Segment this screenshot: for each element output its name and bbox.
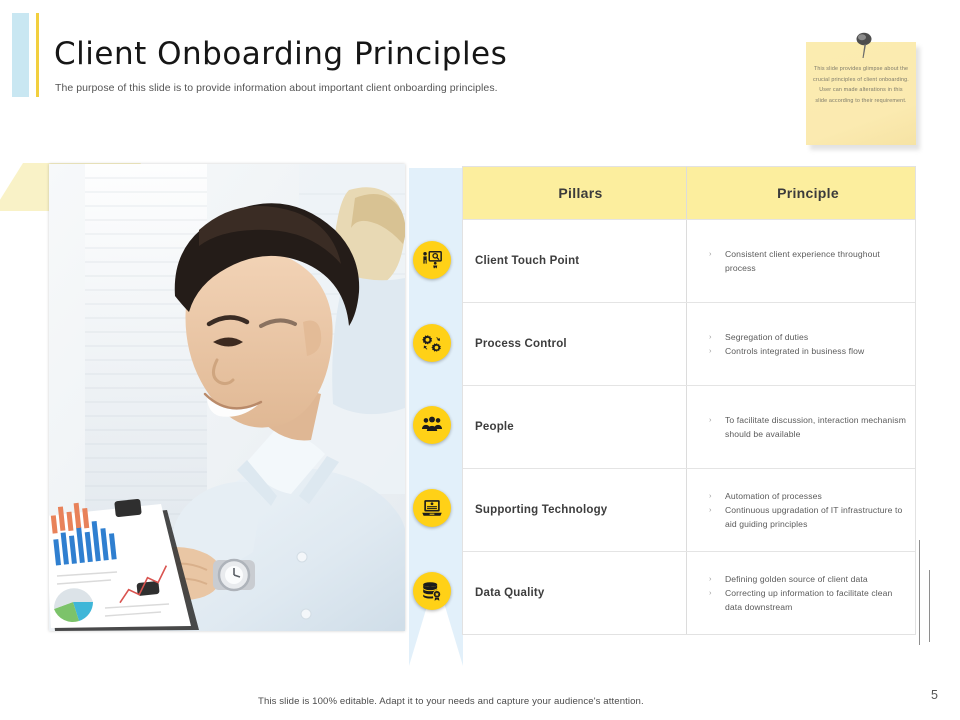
list-item: › Correcting up information to facilitat… (709, 586, 907, 614)
business-meeting-photo (49, 164, 405, 631)
bullet-text: Consistent client experience throughout … (725, 247, 907, 275)
pillar-label: Supporting Technology (463, 469, 687, 551)
gears-icon[interactable] (413, 324, 451, 362)
page-number: 5 (931, 688, 938, 702)
table-row[interactable]: Data Quality › Defining golden source of… (463, 551, 915, 634)
presenter-board-icon[interactable] (413, 241, 451, 279)
bullet-list: › Defining golden source of client data … (709, 572, 907, 615)
principles-table: Pillars Principle Client Touch Point › C… (462, 166, 916, 635)
accent-bar-blue (12, 13, 29, 97)
table-header-row: Pillars Principle (463, 167, 915, 219)
page-subtitle: The purpose of this slide is to provide … (55, 82, 498, 94)
pillar-label: Process Control (463, 303, 687, 385)
list-item: › Continuous upgradation of IT infrastru… (709, 503, 907, 531)
list-item: › Defining golden source of client data (709, 572, 907, 586)
bullet-list: › Automation of processes › Continuous u… (709, 489, 907, 532)
bullet-text: Segregation of duties (725, 330, 907, 344)
column-header-principle: Principle (687, 167, 915, 219)
right-hairline-primary (919, 540, 920, 645)
chevron-right-icon: › (709, 503, 725, 517)
database-award-icon[interactable] (413, 572, 451, 610)
sticky-note-text: This slide provides glimpse about the cr… (813, 64, 909, 106)
chevron-right-icon: › (709, 247, 725, 261)
table-row[interactable]: Supporting Technology › Automation of pr… (463, 468, 915, 551)
bullet-list: › Segregation of duties › Controls integ… (709, 330, 907, 359)
principle-cell: › Automation of processes › Continuous u… (687, 469, 915, 551)
page-title: Client Onboarding Principles (54, 36, 507, 72)
bullet-list: › Consistent client experience throughou… (709, 247, 907, 275)
bullet-text: Correcting up information to facilitate … (725, 586, 907, 614)
list-item: › Segregation of duties (709, 330, 907, 344)
bullet-list: › To facilitate discussion, interaction … (709, 413, 907, 441)
bullet-text: Defining golden source of client data (725, 572, 907, 586)
accent-bar-yellow (36, 13, 39, 97)
chevron-right-icon: › (709, 586, 725, 600)
column-header-pillars: Pillars (463, 167, 687, 219)
chevron-right-icon: › (709, 413, 725, 427)
table-row[interactable]: Client Touch Point › Consistent client e… (463, 219, 915, 302)
pillar-label: People (463, 386, 687, 468)
footer-note: This slide is 100% editable. Adapt it to… (258, 696, 644, 707)
list-item: › Controls integrated in business flow (709, 344, 907, 358)
principle-cell: › Defining golden source of client data … (687, 552, 915, 634)
bullet-text: Automation of processes (725, 489, 907, 503)
principle-cell: › Consistent client experience throughou… (687, 220, 915, 302)
pillar-label: Client Touch Point (463, 220, 687, 302)
people-group-icon[interactable] (413, 406, 451, 444)
list-item: › Automation of processes (709, 489, 907, 503)
sticky-note: This slide provides glimpse about the cr… (806, 42, 920, 150)
chevron-right-icon: › (709, 330, 725, 344)
right-hairline-secondary (929, 570, 930, 642)
bullet-text: To facilitate discussion, interaction me… (725, 413, 907, 441)
bullet-text: Continuous upgradation of IT infrastruct… (725, 503, 907, 531)
chevron-right-icon: › (709, 572, 725, 586)
chevron-right-icon: › (709, 489, 725, 503)
chevron-right-icon: › (709, 344, 725, 358)
principle-cell: › Segregation of duties › Controls integ… (687, 303, 915, 385)
list-item: › Consistent client experience throughou… (709, 247, 907, 275)
principle-cell: › To facilitate discussion, interaction … (687, 386, 915, 468)
pushpin-icon (853, 32, 875, 60)
table-body: Client Touch Point › Consistent client e… (463, 219, 915, 634)
laptop-screen-icon[interactable] (413, 489, 451, 527)
bullet-text: Controls integrated in business flow (725, 344, 907, 358)
table-row[interactable]: People › To facilitate discussion, inter… (463, 385, 915, 468)
table-row[interactable]: Process Control › Segregation of duties … (463, 302, 915, 385)
pillar-label: Data Quality (463, 552, 687, 634)
list-item: › To facilitate discussion, interaction … (709, 413, 907, 441)
